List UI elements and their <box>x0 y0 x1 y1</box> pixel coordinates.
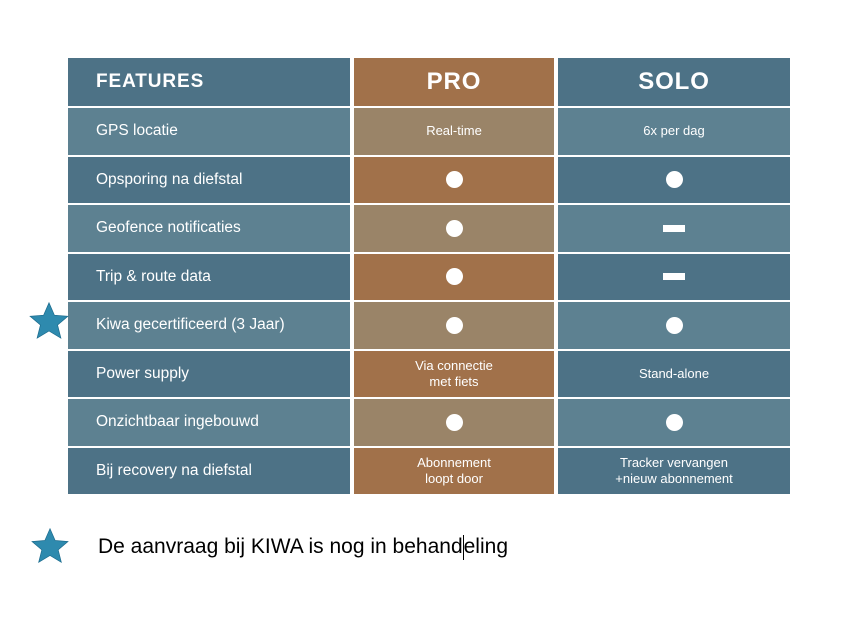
table-row: Bij recovery na diefstal <box>68 448 350 495</box>
column-header-features: FEATURES <box>68 58 350 106</box>
table-row: Power supply <box>68 351 350 398</box>
included-dot-icon <box>446 414 463 431</box>
column-header-pro: PRO <box>354 58 554 106</box>
table-cell-pro: Via connectie met fiets <box>354 351 554 398</box>
table-cell-solo <box>558 399 790 446</box>
cell-text: Real-time <box>426 123 482 139</box>
table-cell-pro <box>354 399 554 446</box>
feature-label: Opsporing na diefstal <box>96 171 242 189</box>
table-cell-pro: Real-time <box>354 108 554 155</box>
table-cell-solo <box>558 205 790 252</box>
cell-text: 6x per dag <box>643 123 704 139</box>
feature-label: Trip & route data <box>96 268 211 286</box>
table-column-pro: PRO Real-time Via connectie met fiets Ab… <box>354 58 554 500</box>
included-dot-icon <box>446 171 463 188</box>
table-cell-pro <box>354 302 554 349</box>
cell-text: Tracker vervangen +nieuw abonnement <box>615 455 732 488</box>
feature-label: Kiwa gecertificeerd (3 Jaar) <box>96 316 285 334</box>
feature-label: Onzichtbaar ingebouwd <box>96 413 259 431</box>
table-row: Trip & route data <box>68 254 350 301</box>
not-included-dash-icon <box>663 225 685 232</box>
cell-text: Abonnement loopt door <box>417 455 491 488</box>
footnote-text-after-caret: eling <box>464 535 508 559</box>
included-dot-icon <box>666 317 683 334</box>
included-dot-icon <box>666 171 683 188</box>
table-cell-pro <box>354 205 554 252</box>
included-dot-icon <box>446 220 463 237</box>
table-row: Opsporing na diefstal <box>68 157 350 204</box>
feature-label: Bij recovery na diefstal <box>96 462 252 480</box>
footnote-text-before-caret: De aanvraag bij KIWA is nog in behand <box>98 535 463 559</box>
column-header-solo: SOLO <box>558 58 790 106</box>
table-row: Kiwa gecertificeerd (3 Jaar) <box>68 302 350 349</box>
cell-text: Stand-alone <box>639 366 709 382</box>
table-cell-solo: Stand-alone <box>558 351 790 398</box>
footnote-text-line[interactable]: De aanvraag bij KIWA is nog in behandeli… <box>98 529 798 565</box>
table-cell-pro <box>354 157 554 204</box>
table-row: Onzichtbaar ingebouwd <box>68 399 350 446</box>
table-cell-solo <box>558 254 790 301</box>
feature-label: GPS locatie <box>96 122 178 140</box>
table-column-solo: SOLO 6x per dag Stand-alone Tracker verv… <box>558 58 790 500</box>
table-cell-solo: Tracker vervangen +nieuw abonnement <box>558 448 790 495</box>
included-dot-icon <box>666 414 683 431</box>
table-row: GPS locatie <box>68 108 350 155</box>
table-cell-pro <box>354 254 554 301</box>
cell-text: Via connectie met fiets <box>415 358 493 391</box>
table-column-features: FEATURES GPS locatie Opsporing na diefst… <box>68 58 350 500</box>
table-cell-pro: Abonnement loopt door <box>354 448 554 495</box>
feature-label: Geofence notificaties <box>96 219 241 237</box>
table-row: Geofence notificaties <box>68 205 350 252</box>
table-cell-solo: 6x per dag <box>558 108 790 155</box>
table-cell-solo <box>558 157 790 204</box>
not-included-dash-icon <box>663 273 685 280</box>
table-cell-solo <box>558 302 790 349</box>
feature-comparison-table: FEATURES GPS locatie Opsporing na diefst… <box>68 58 790 500</box>
included-dot-icon <box>446 268 463 285</box>
feature-label: Power supply <box>96 365 189 383</box>
included-dot-icon <box>446 317 463 334</box>
